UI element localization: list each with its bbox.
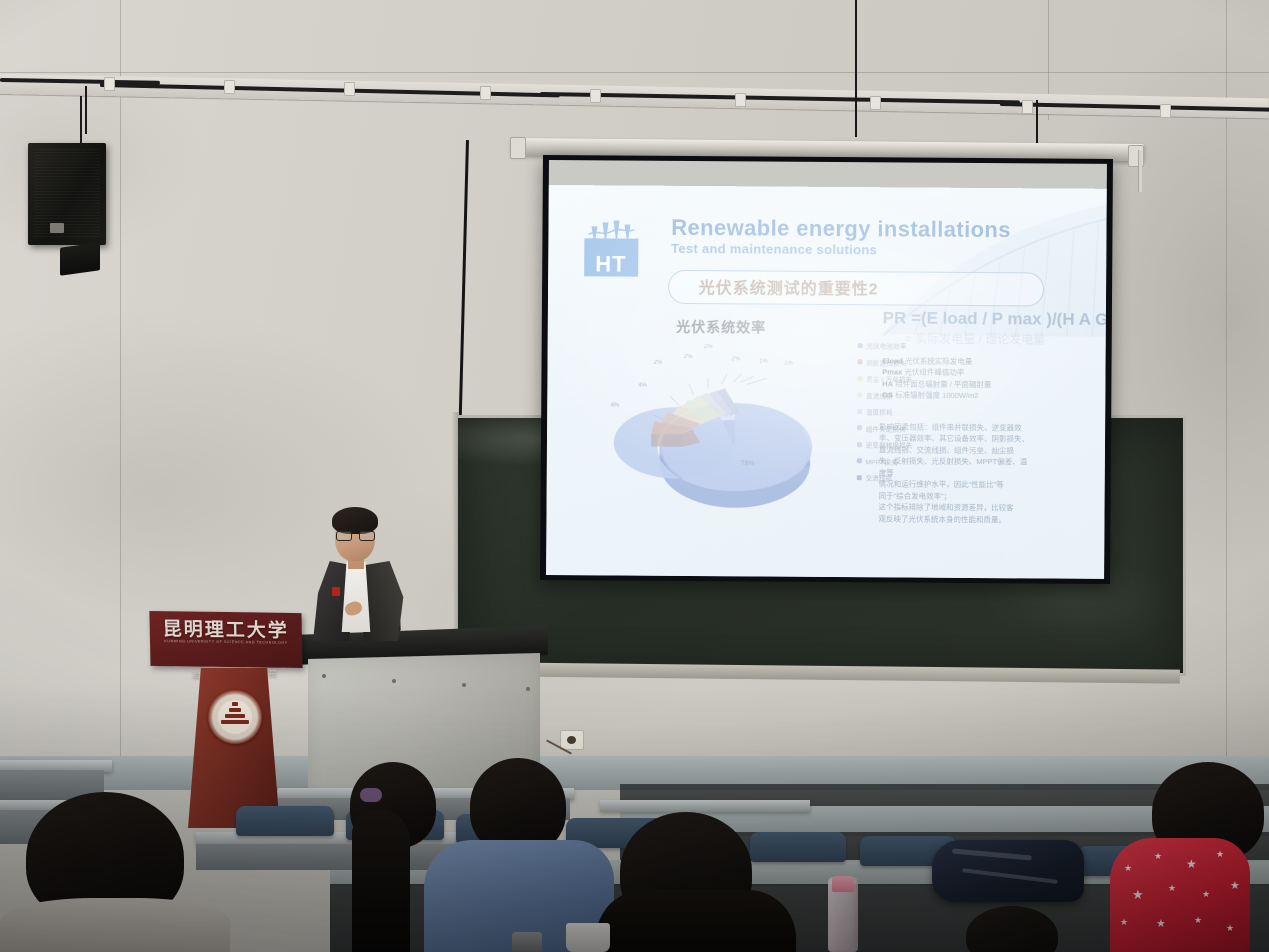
university-name-en: KUNMING UNIVERSITY OF SCIENCE AND TECHNO…: [156, 639, 296, 645]
pie-label: 2%: [684, 354, 693, 360]
cable-clip: [344, 82, 355, 96]
podium-screw: [462, 683, 466, 687]
podium-screw: [322, 674, 326, 678]
emblem-bar: [225, 714, 245, 718]
presenter-hair: [332, 507, 378, 534]
chair[interactable]: [236, 806, 334, 836]
audience-hair-long: [596, 890, 796, 952]
podium-screw: [526, 687, 530, 691]
legend-swatch: [857, 409, 862, 414]
hanging-wire: [85, 86, 87, 134]
lecture-hall-photo: HT Renewable energy installations Test a…: [0, 0, 1269, 952]
hanging-wire: [855, 0, 857, 92]
podium-screw: [392, 679, 396, 683]
slide-section-title: 光伏系统测试的重要性2: [699, 274, 879, 299]
star-motif: ★: [1202, 890, 1210, 899]
definition-term: Eload: [882, 356, 902, 365]
star-motif: ★: [1194, 916, 1202, 925]
speaker-grill: [34, 149, 100, 237]
legend-label: 光伏电池效率: [866, 341, 906, 351]
pie-label: 1%: [759, 359, 768, 365]
backpack[interactable]: [932, 840, 1084, 902]
projector-screen: HT Renewable energy installations Test a…: [540, 155, 1113, 584]
emblem-bar: [229, 708, 241, 712]
presentation-slide: HT Renewable energy installations Test a…: [546, 185, 1107, 579]
legend-swatch: [857, 393, 862, 398]
emblem-bar: [221, 720, 249, 724]
cable-clip: [104, 77, 115, 91]
legend-swatch: [857, 442, 862, 447]
pie-label: 2%: [654, 360, 663, 366]
chair[interactable]: [750, 832, 846, 862]
presenter: [305, 505, 415, 640]
star-motif: ★: [1168, 884, 1176, 893]
wall-seam: [120, 0, 121, 790]
legend-label: 温度损耗: [866, 407, 893, 417]
presenter-lapel-badge: [332, 587, 340, 596]
bullet-list: 影响因素包括：组件串并联损失、逆变器效 率、变压器效率、其它设备效率、阴影损失、…: [878, 421, 1096, 526]
screen-surface: HT Renewable energy installations Test a…: [546, 160, 1107, 579]
cable-clip: [1022, 100, 1033, 114]
definition-desc: 光伏系统实际发电量: [905, 356, 973, 365]
cable-clip: [735, 93, 746, 107]
star-motif: ★: [1120, 918, 1128, 927]
star-motif: ★: [1156, 920, 1166, 929]
bottle-cap: [832, 876, 854, 892]
legend-swatch: [857, 360, 862, 365]
audience-shoulders: [0, 898, 230, 952]
hanging-wire: [1036, 100, 1038, 146]
legend-swatch: [857, 343, 862, 348]
hair-tie: [360, 788, 382, 802]
hanging-wire: [855, 92, 857, 137]
definition-term: GS: [882, 390, 893, 399]
backpack-strap: [962, 868, 1058, 884]
definition-desc: 组件面总辐射量 / 平面辐射量: [895, 379, 991, 389]
backpack-strap: [952, 849, 1032, 861]
cable-clip: [224, 80, 235, 94]
desk: [600, 800, 810, 812]
star-motif: ★: [1154, 852, 1162, 861]
definition-desc: 光伏组件峰值功率: [904, 368, 964, 377]
legend-item: 温度损耗: [857, 403, 980, 420]
legend-swatch: [857, 426, 862, 431]
definition-desc: 标准辐射强度 1000W/m2: [895, 391, 978, 401]
definition-row: GS 标准辐射强度 1000W/m2: [882, 389, 1094, 402]
cable-clip: [1160, 104, 1171, 118]
pie-label-main: 78%: [741, 460, 755, 467]
cable-clip: [870, 96, 881, 110]
definition-term: Pmax: [882, 367, 902, 376]
pie-chart: 4% 4% 2% 2% 2% 2% 1% 1% 78%: [602, 337, 855, 542]
pie-label: 1%: [784, 361, 793, 367]
star-motif: ★: [1186, 860, 1197, 869]
legend-swatch: [857, 459, 862, 464]
paper-cup[interactable]: [566, 923, 610, 952]
pie-label: 2%: [731, 357, 740, 363]
audience-red-star-shirt: ★ ★ ★ ★ ★ ★ ★ ★ ★ ★ ★ ★: [1110, 838, 1250, 952]
pie-label: 2%: [704, 344, 713, 350]
star-motif: ★: [1230, 882, 1240, 891]
audience-hair-ponytail: [352, 810, 410, 952]
wall-seam: [1226, 0, 1227, 790]
cable-clip: [590, 89, 601, 103]
cable-clip: [480, 86, 491, 100]
bullet-line: 观反映了光伏系统本身的性能和质量。: [878, 513, 1096, 526]
pr-formula: PR =(E load / P max )/(H A G S ): [883, 308, 1107, 330]
legend-swatch: [856, 475, 861, 480]
power-outlet[interactable]: [560, 730, 584, 750]
thermos[interactable]: [512, 932, 542, 952]
outlet-socket: [567, 736, 576, 744]
star-motif: ★: [1124, 864, 1132, 873]
emblem-bar: [232, 702, 238, 706]
university-emblem: [208, 690, 262, 744]
ht-logo-text: HT: [584, 253, 638, 275]
pr-formula-expanded: = 实际发电量 / 理论发电量: [905, 330, 1045, 348]
pie-chart-svg: [602, 337, 855, 542]
ht-logo: HT: [584, 220, 638, 276]
screen-case-end-left: [510, 137, 526, 159]
speaker-wire: [80, 96, 82, 146]
definition-list: Eload 光伏系统实际发电量 Pmax 光伏组件峰值功率 HA 组件面总辐射量…: [882, 355, 1094, 402]
pie-label: 4%: [611, 402, 620, 408]
slide-title: Renewable energy installations: [671, 215, 1011, 243]
screen-mount-arm: [1138, 150, 1142, 192]
wall-seam: [0, 72, 1269, 73]
definition-term: HA: [882, 379, 893, 388]
star-motif: ★: [1226, 924, 1234, 933]
slide-subtitle: Test and maintenance solutions: [671, 241, 877, 257]
speaker-bracket: [60, 242, 100, 276]
glasses-lens-left: [336, 531, 352, 541]
legend-swatch: [857, 376, 862, 381]
glasses-lens-right: [359, 531, 375, 541]
presenter-glasses: [336, 531, 374, 539]
speaker-badge: [50, 223, 64, 233]
star-motif: ★: [1216, 850, 1224, 859]
podium-nameplate: 昆明理工大学 KUNMING UNIVERSITY OF SCIENCE AND…: [149, 611, 302, 668]
star-motif: ★: [1132, 890, 1144, 899]
pie-label: 4%: [638, 382, 647, 388]
wall-speaker: [28, 143, 106, 245]
chart-title: 光伏系统效率: [676, 316, 766, 337]
